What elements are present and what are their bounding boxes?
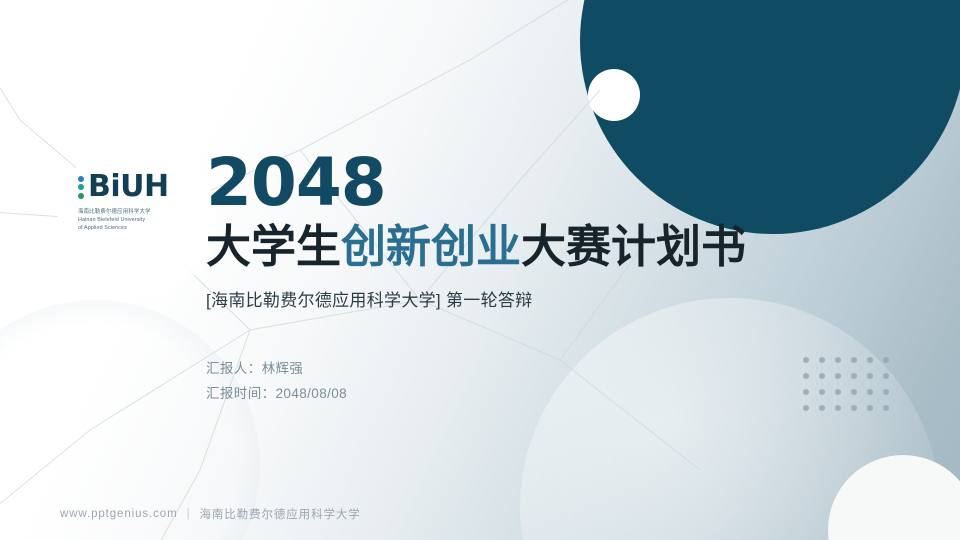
logo-dots-icon [78,176,84,199]
subtitle: [海南比勒费尔德应用科学大学] 第一轮答辩 [206,286,846,311]
year-display: 2048 [206,150,846,216]
footer: www.pptgenius.com | 海南比勒费尔德应用科学大学 [60,506,361,522]
headline-suffix: 大赛计划书 [521,221,746,272]
footer-site[interactable]: www.pptgenius.com [60,508,178,520]
date-line: 汇报时间：2048/08/08 [206,382,846,407]
logo-mark: BiUH [78,172,198,202]
footer-organization: 海南比勒费尔德应用科学大学 [199,506,360,522]
logo-wordmark: BiUH [88,172,169,202]
title-slide: BiUH 海南比勒费尔德应用科学大学 Hainan Bielefeld Univ… [0,0,960,540]
footer-separator: | [187,508,191,520]
title-content: 2048 大学生创新创业大赛计划书 [海南比勒费尔德应用科学大学] 第一轮答辩 … [206,150,846,407]
logo-subtitle-en-line1: Hainan Bielefeld University [78,216,198,224]
decorative-white-circle-small [588,69,640,121]
presentation-meta: 汇报人：林辉强 汇报时间：2048/08/08 [206,357,846,407]
page-title: 大学生创新创业大赛计划书 [206,222,846,272]
university-logo: BiUH 海南比勒费尔德应用科学大学 Hainan Bielefeld Univ… [78,172,198,232]
headline-accent: 创新创业 [341,221,521,272]
logo-subtitle-en-line2: of Applied Sciences [78,224,198,232]
presenter-line: 汇报人：林辉强 [206,357,846,382]
headline-prefix: 大学生 [206,221,341,272]
logo-subtitle-cn: 海南比勒费尔德应用科学大学 [78,208,198,216]
